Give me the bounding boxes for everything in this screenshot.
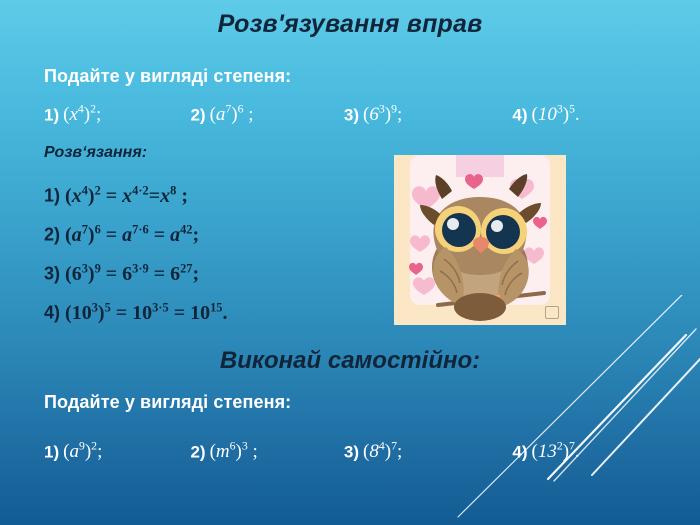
equals-sign: = [174,302,185,324]
exercise-item: 4)(103)5. [512,103,579,126]
equals-sign: = [149,185,160,207]
expr-inner-exponent: 9 [79,440,85,453]
exercise-item: 1)(a9)2; [44,440,186,463]
expr-inner-exponent: 6 [230,440,236,453]
equals-sign: = [106,224,117,246]
expr-base: x [72,185,82,207]
owl-illustration [394,155,566,325]
owl-drawing [394,155,566,325]
solution-expression: (103)5 = 103·5 = 1015. [60,302,227,324]
expr-tail: ; [176,185,188,207]
decorative-diagonal-lines [440,295,700,525]
exercise-item: 4)(132)7. [512,440,579,463]
expr-base: a [72,224,82,246]
expr-result-exponent: 15 [210,300,222,314]
expr-product-exponent: 7·6 [132,222,149,236]
item-number: 3) [344,442,359,461]
expr-base: 10 [538,104,557,125]
solution-expression: (x4)2 = x4·2=x8 ; [60,185,188,207]
solution-number: 4) [44,303,60,323]
expr-base: 10 [72,302,92,324]
exercise-item: 3)(84)7; [344,440,508,463]
item-number: 1) [44,442,59,461]
exercise-item: 2)(m6)3 ; [190,440,339,463]
expr-inner-exponent: 4 [379,440,385,453]
solution-line: 4)(103)5 = 103·5 = 1015. [44,300,228,325]
item-expression: (132)7. [527,441,579,462]
expr-inner-exponent: 4 [82,183,88,197]
solution-line: 3)(63)9 = 63·9 = 627; [44,261,199,286]
expr-outer-exponent: 5 [105,300,111,314]
expr-tail: ; [397,104,402,125]
item-expression: (m6)3 ; [206,441,258,462]
expr-tail: ; [193,263,200,285]
exercise-item: 2)(a7)6 ; [190,103,339,126]
solution-number: 1) [44,186,60,206]
item-number: 2) [190,105,205,124]
expr-product-exponent: 4·2 [132,183,149,197]
item-expression: (a7)6 ; [206,104,254,125]
item-number: 2) [190,442,205,461]
expr-tail: ; [96,104,101,125]
item-number: 4) [512,105,527,124]
slide-canvas: Розв'язування вправ Подайте у вигляді ст… [0,0,700,525]
expr-inner-exponent: 3 [92,300,98,314]
expr-tail: ; [248,441,258,462]
expr-result-exponent: 27 [180,261,192,275]
self-work-title: Виконай самостійно: [0,347,700,375]
expr-base: 6 [369,104,379,125]
expr-base: a [69,441,79,462]
expr-tail: . [575,441,580,462]
expr-base: x [122,185,132,207]
solution-expression: (a7)6 = a7·6 = a42; [60,224,199,246]
expr-base: 6 [122,263,132,285]
expr-base: a [216,104,226,125]
expr-product-exponent: 3·9 [132,261,149,275]
solution-number: 2) [44,225,60,245]
expr-inner-exponent: 7 [82,222,88,236]
item-number: 4) [512,442,527,461]
solution-label: Розв‘язання: [44,144,147,162]
solution-line: 1)(x4)2 = x4·2=x8 ; [44,183,188,208]
expr-base: x [69,104,77,125]
expr-tail: ; [97,441,102,462]
solution-line: 2)(a7)6 = a7·6 = a42; [44,222,199,247]
expr-base: 13 [538,441,557,462]
item-expression: (84)7; [359,441,402,462]
expr-outer-exponent: 6 [95,222,101,236]
page-title: Розв'язування вправ [0,10,700,39]
expr-inner-exponent: 2 [557,440,563,453]
expr-tail: ; [244,104,254,125]
expr-base: 8 [369,441,379,462]
item-number: 1) [44,105,59,124]
exercise-item: 1)(x4)2; [44,103,186,126]
expr-inner-exponent: 7 [225,103,231,116]
expr-base: 6 [72,263,82,285]
expr-inner-exponent: 4 [78,103,84,116]
item-number: 3) [344,105,359,124]
expr-base: 10 [132,302,152,324]
self-work-prompt-text: Подайте у вигляді степеня: [44,392,291,413]
expr-tail: . [223,302,228,324]
equals-sign: = [116,302,127,324]
expr-result-exponent: 42 [180,222,192,236]
exercise-item: 3)(63)9; [344,103,508,126]
expr-base: 10 [190,302,210,324]
top-exercise-row: 1)(x4)2; 2)(a7)6 ; 3)(63)9; 4)(103)5. [44,103,684,126]
expr-product-exponent: 3·5 [152,300,169,314]
equals-sign: = [106,185,117,207]
expr-tail: ; [397,441,402,462]
expr-tail: . [575,104,580,125]
expr-outer-exponent: 9 [95,261,101,275]
item-expression: (63)9; [359,104,402,125]
expr-inner-exponent: 3 [379,103,385,116]
equals-sign: = [154,224,165,246]
expr-base: m [216,441,230,462]
expr-base: a [170,224,180,246]
expr-inner-exponent: 3 [557,103,563,116]
expr-inner-exponent: 3 [82,261,88,275]
expr-outer-exponent: 2 [95,183,101,197]
expr-base: x [160,185,170,207]
solution-number: 3) [44,264,60,284]
expr-tail: ; [193,224,200,246]
equals-sign: = [106,263,117,285]
item-expression: (a9)2; [59,441,102,462]
item-expression: (x4)2; [59,104,101,125]
expr-base: 6 [170,263,180,285]
expr-base: a [122,224,132,246]
solution-expression: (63)9 = 63·9 = 627; [60,263,199,285]
top-prompt-text: Подайте у вигляді степеня: [44,66,291,87]
image-watermark-icon [545,306,559,319]
equals-sign: = [154,263,165,285]
self-work-exercise-row: 1)(a9)2; 2)(m6)3 ; 3)(84)7; 4)(132)7. [44,440,684,463]
item-expression: (103)5. [527,104,579,125]
